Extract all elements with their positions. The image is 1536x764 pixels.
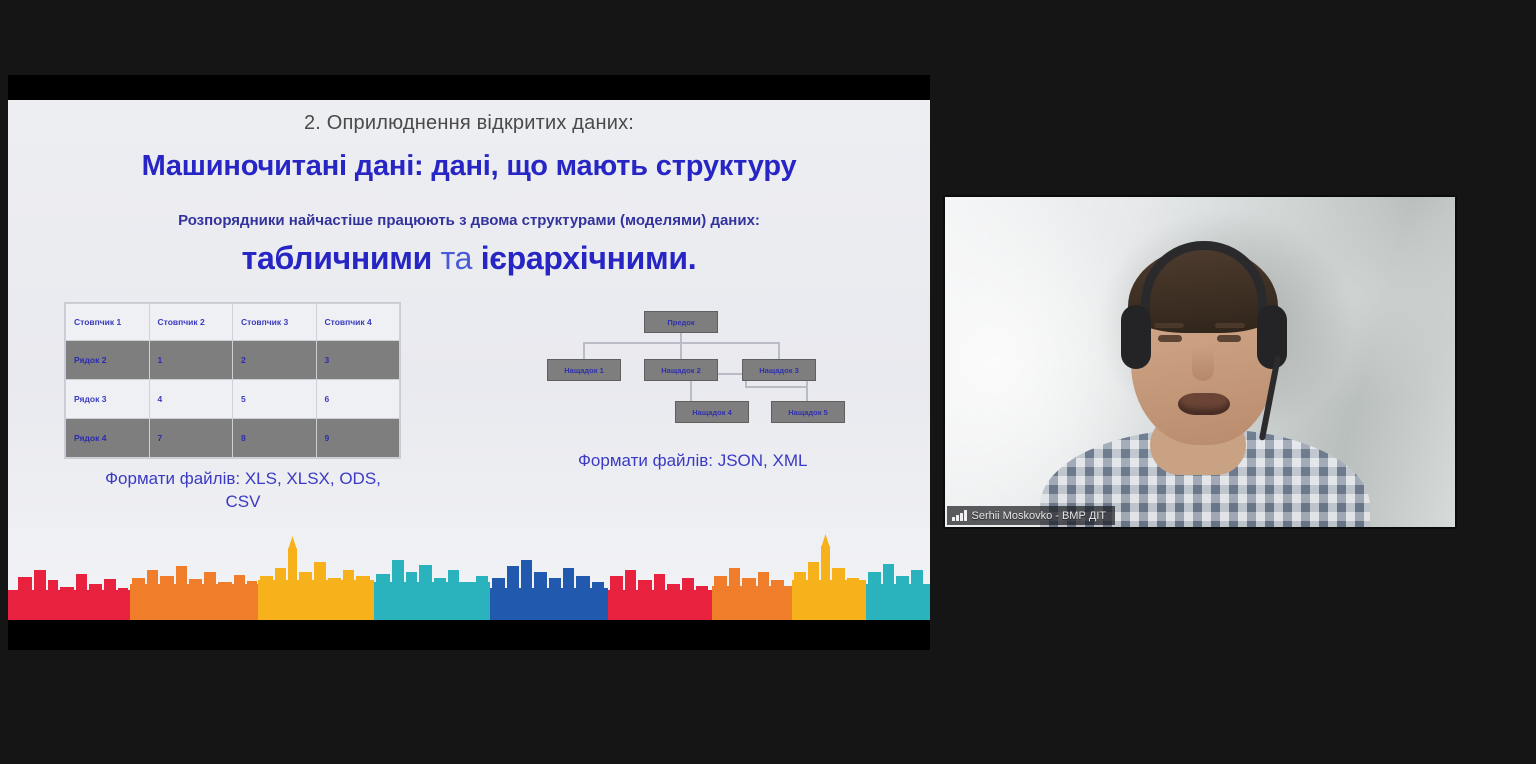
table-header-cell: Стовпчик 3 bbox=[233, 304, 317, 341]
meeting-stage: 2. Оприлюднення відкритих даних: Машиноч… bbox=[0, 0, 1536, 764]
row-label: Рядок 3 bbox=[66, 380, 150, 419]
tree-node-child-3: Нащадок 3 bbox=[742, 359, 816, 381]
tabular-formats-caption: Формати файлів: XLS, XLSX, ODS, CSV bbox=[103, 468, 383, 514]
table-row: Рядок 4 7 8 9 bbox=[66, 419, 400, 458]
tree-node-child-2: Нащадок 2 bbox=[644, 359, 718, 381]
emphasis-conjunction: та bbox=[432, 240, 481, 276]
participant-nameplate: Serhii Moskovko - ВМР ДІТ bbox=[947, 506, 1115, 525]
hierarchy-diagram: Предок Нащадок 1 Нащадок 2 Нащадок 3 Нащ… bbox=[535, 303, 835, 428]
participant-mouth bbox=[1178, 393, 1230, 415]
participant-brow-left bbox=[1154, 323, 1184, 328]
tree-node-grandchild-5: Нащадок 5 bbox=[771, 401, 845, 423]
participant-eye-right bbox=[1217, 335, 1241, 342]
signal-bars-icon bbox=[952, 510, 967, 521]
tree-node-grandchild-4: Нащадок 4 bbox=[675, 401, 749, 423]
presentation-slide: 2. Оприлюднення відкритих даних: Машиноч… bbox=[8, 100, 930, 620]
table-cell: 4 bbox=[149, 380, 233, 419]
participant-name-label: Serhii Moskovko - ВМР ДІТ bbox=[972, 510, 1107, 522]
emphasis-tabular: табличними bbox=[242, 240, 432, 276]
participant-nose bbox=[1192, 347, 1214, 381]
participant-eye-left bbox=[1158, 335, 1182, 342]
table-cell: 2 bbox=[233, 341, 317, 380]
table-cell: 5 bbox=[233, 380, 317, 419]
tree-node-child-1: Нащадок 1 bbox=[547, 359, 621, 381]
table-cell: 9 bbox=[316, 419, 400, 458]
slide-emphasis-line: табличними та ієрархічними. bbox=[8, 240, 930, 277]
participant-video-tile[interactable]: Serhii Moskovko - ВМР ДІТ bbox=[943, 195, 1457, 529]
participant-video-stream: Serhii Moskovko - ВМР ДІТ bbox=[945, 197, 1455, 527]
table-row: Рядок 2 1 2 3 bbox=[66, 341, 400, 380]
slide-subtitle: Розпорядники найчастіше працюють з двома… bbox=[8, 212, 930, 229]
demo-table: Стовпчик 1 Стовпчик 2 Стовпчик 3 Стовпчи… bbox=[65, 303, 400, 458]
slide-kicker: 2. Оприлюднення відкритих даних: bbox=[8, 112, 930, 135]
hierarchy-formats-caption: Формати файлів: JSON, XML bbox=[578, 450, 828, 473]
table-cell: 6 bbox=[316, 380, 400, 419]
table-cell: 8 bbox=[233, 419, 317, 458]
table-cell: 7 bbox=[149, 419, 233, 458]
slide-title: Машиночитані дані: дані, що мають структ… bbox=[8, 150, 930, 183]
tabular-example: Стовпчик 1 Стовпчик 2 Стовпчик 3 Стовпчи… bbox=[65, 303, 405, 458]
emphasis-hierarchical: ієрархічними. bbox=[481, 240, 697, 276]
row-label: Рядок 2 bbox=[66, 341, 150, 380]
participant-brow-right bbox=[1215, 323, 1245, 328]
table-row: Рядок 3 4 5 6 bbox=[66, 380, 400, 419]
tree-connector bbox=[745, 386, 807, 388]
table-header-cell: Стовпчик 4 bbox=[316, 304, 400, 341]
tree-node-root: Предок bbox=[644, 311, 718, 333]
table-header-cell: Стовпчик 2 bbox=[149, 304, 233, 341]
headphone-earcup-left bbox=[1121, 305, 1151, 369]
skyline-decoration bbox=[8, 532, 930, 620]
table-cell: 3 bbox=[316, 341, 400, 380]
table-cell: 1 bbox=[149, 341, 233, 380]
screen-share-frame: 2. Оприлюднення відкритих даних: Машиноч… bbox=[8, 75, 930, 650]
table-header-row: Стовпчик 1 Стовпчик 2 Стовпчик 3 Стовпчи… bbox=[66, 304, 400, 341]
row-label: Рядок 4 bbox=[66, 419, 150, 458]
table-header-cell: Стовпчик 1 bbox=[66, 304, 150, 341]
headphone-earcup-right bbox=[1257, 305, 1287, 369]
